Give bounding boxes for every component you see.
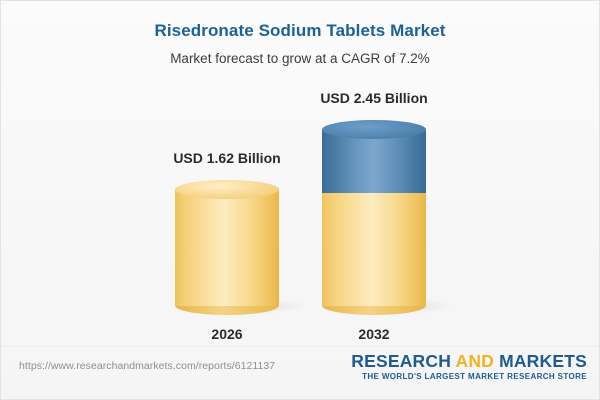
bar-value-label-2032: USD 2.45 Billion [272, 90, 476, 106]
bar-segment-base-2032 [322, 193, 426, 306]
logo-word-and: AND [455, 351, 494, 371]
logo-tagline: THE WORLD'S LARGEST MARKET RESEARCH STOR… [351, 371, 587, 382]
source-url[interactable]: https://www.researchandmarkets.com/repor… [19, 360, 275, 372]
bar-category-label-2032: 2032 [272, 326, 476, 342]
chart-title: Risedronate Sodium Tablets Market [1, 21, 599, 41]
logo-word-research: RESEARCH [351, 351, 451, 371]
chart-subtitle: Market forecast to grow at a CAGR of 7.2… [1, 51, 599, 66]
cylinder-cap [322, 120, 426, 139]
cylinder-body [322, 193, 426, 306]
cylinder-2026 [175, 180, 279, 306]
cylinder-2032 [322, 120, 426, 306]
bar-segment-growth-2032 [322, 120, 426, 193]
footer: https://www.researchandmarkets.com/repor… [1, 346, 599, 399]
bar-segment-base-2026 [175, 180, 279, 306]
cylinder-cap [175, 180, 279, 199]
bar-value-label-2026: USD 1.62 Billion [125, 150, 329, 166]
logo-wordmark: RESEARCH AND MARKETS [351, 351, 587, 371]
logo-word-markets: MARKETS [499, 351, 587, 371]
chart-plot-area: USD 1.62 Billion 2026 USD 2.45 Billion [1, 81, 599, 346]
research-and-markets-logo[interactable]: RESEARCH AND MARKETS THE WORLD'S LARGEST… [351, 351, 587, 382]
market-forecast-infographic: Risedronate Sodium Tablets Market Market… [0, 0, 600, 400]
cylinder-body [175, 189, 279, 306]
